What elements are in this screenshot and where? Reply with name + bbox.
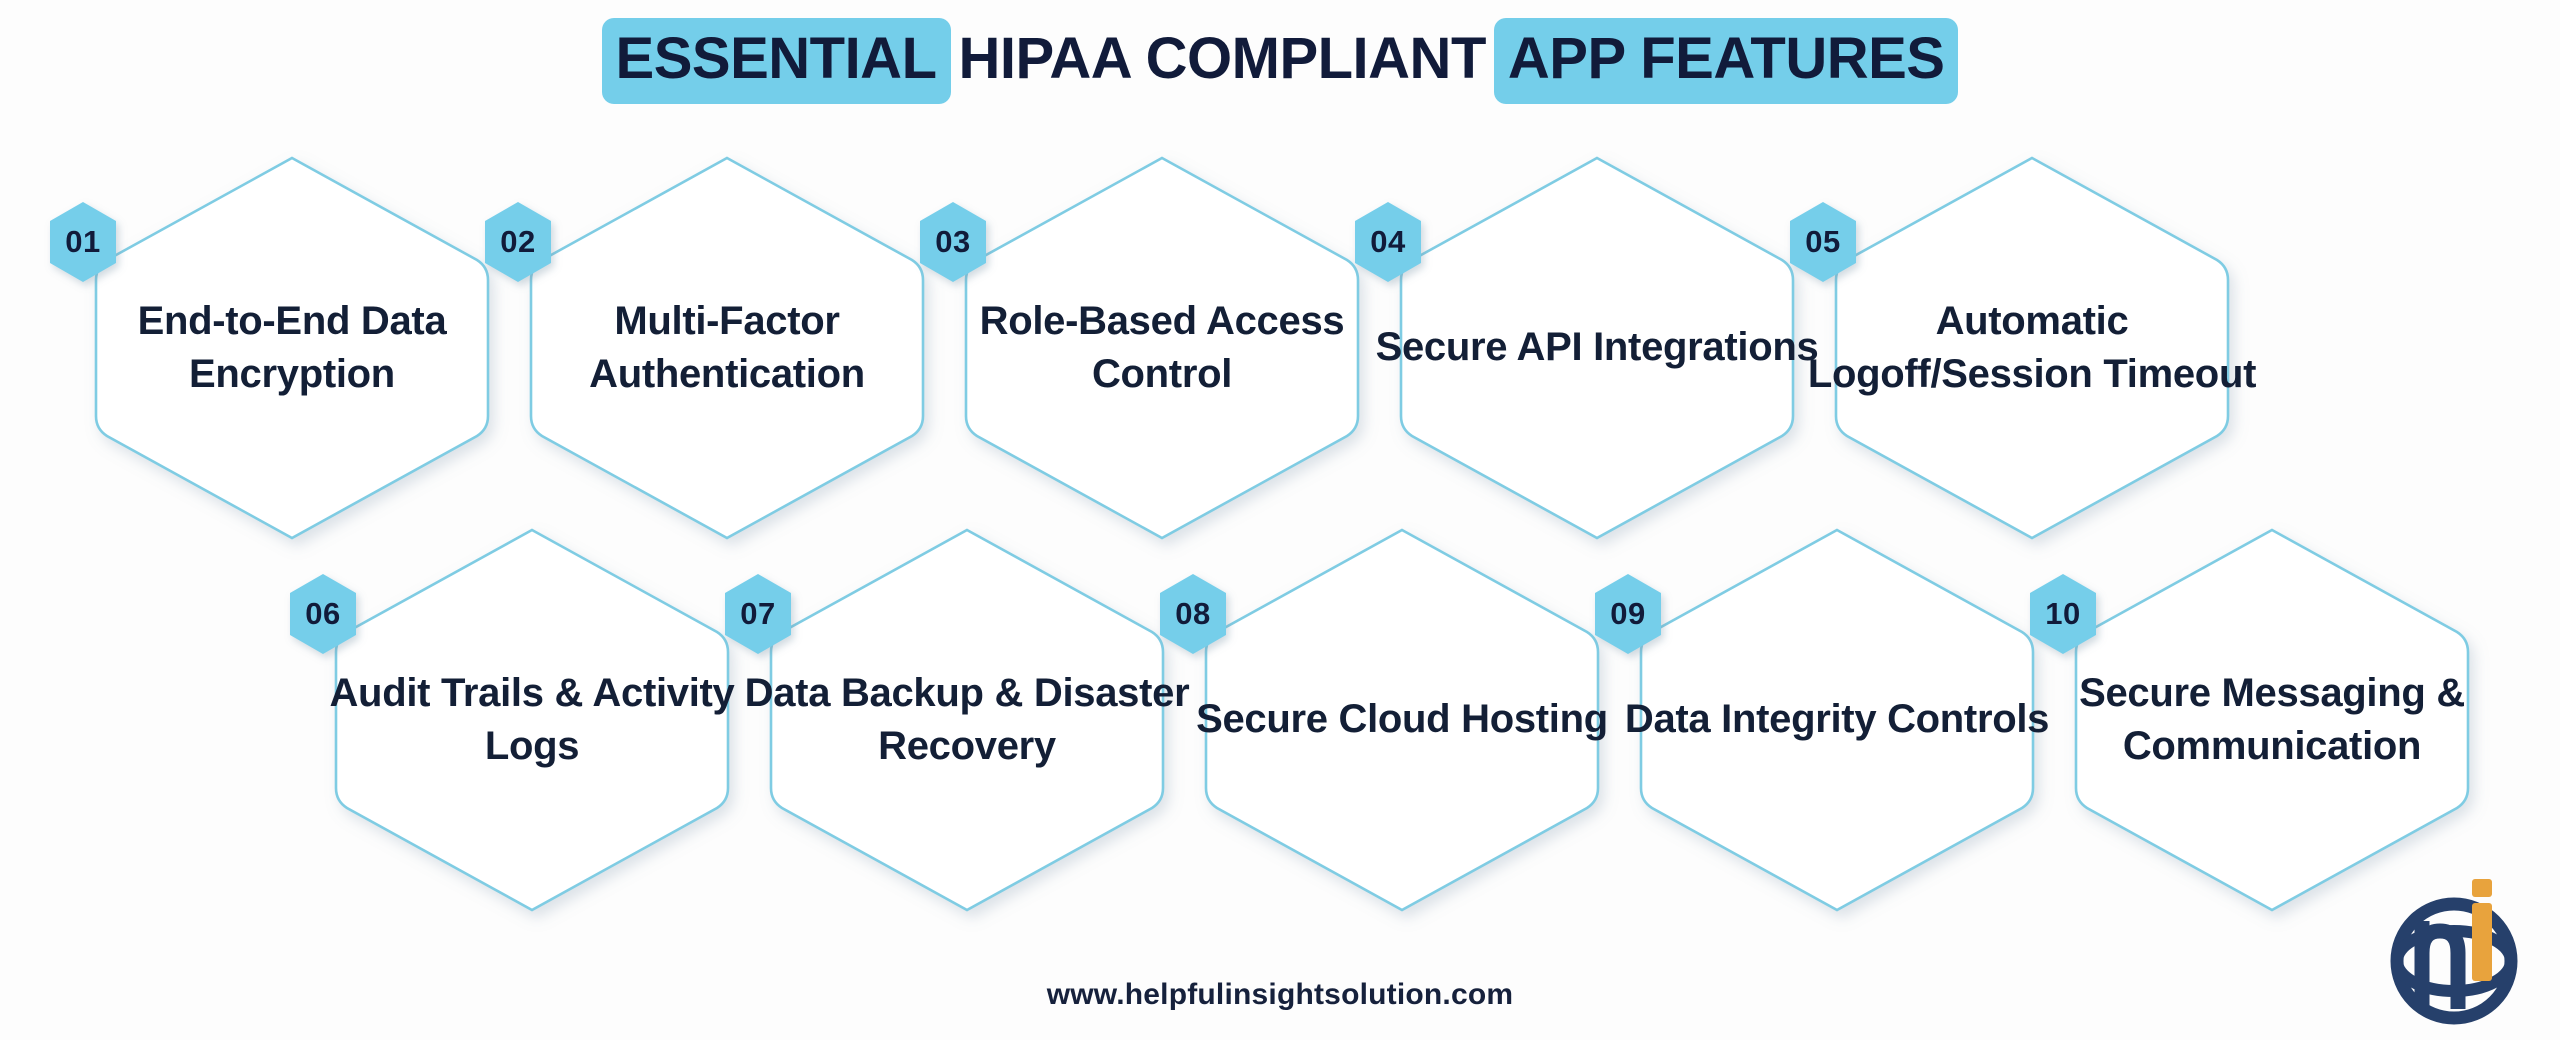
footer-website-url: www.helpfulinsightsolution.com [0, 978, 2560, 1012]
logo-icon [2382, 861, 2532, 1026]
feature-hexagon-02[interactable]: Multi-Factor Authentication02 [527, 148, 927, 548]
hexagon-outline-shape [962, 148, 1362, 548]
badge-number-text: 09 [1591, 572, 1665, 656]
badge-number-text: 02 [481, 200, 555, 284]
feature-hexagon-07[interactable]: Data Backup & Disaster Recovery07 [767, 520, 1167, 920]
feature-number-badge[interactable]: 03 [916, 200, 990, 284]
feature-hexagon-grid: End-to-End Data Encryption01Multi-Factor… [0, 0, 2560, 1040]
hexagon-outline-shape [332, 520, 732, 920]
feature-number-badge[interactable]: 09 [1591, 572, 1665, 656]
feature-hexagon-09[interactable]: Data Integrity Controls09 [1637, 520, 2037, 920]
hexagon-outline-shape [1637, 520, 2037, 920]
feature-hexagon-10[interactable]: Secure Messaging & Communication10 [2072, 520, 2472, 920]
feature-number-badge[interactable]: 07 [721, 572, 795, 656]
badge-number-text: 10 [2026, 572, 2100, 656]
hexagon-outline-shape [1202, 520, 1602, 920]
feature-hexagon-06[interactable]: Audit Trails & Activity Logs06 [332, 520, 732, 920]
feature-hexagon-03[interactable]: Role-Based Access Control03 [962, 148, 1362, 548]
badge-number-text: 05 [1786, 200, 1860, 284]
badge-number-text: 08 [1156, 572, 1230, 656]
feature-number-badge[interactable]: 10 [2026, 572, 2100, 656]
feature-number-badge[interactable]: 02 [481, 200, 555, 284]
feature-hexagon-01[interactable]: End-to-End Data Encryption01 [92, 148, 492, 548]
badge-number-text: 07 [721, 572, 795, 656]
hexagon-outline-shape [767, 520, 1167, 920]
hexagon-outline-shape [1397, 148, 1797, 548]
feature-number-badge[interactable]: 08 [1156, 572, 1230, 656]
badge-number-text: 04 [1351, 200, 1425, 284]
feature-number-badge[interactable]: 06 [286, 572, 360, 656]
hexagon-outline-shape [2072, 520, 2472, 920]
hexagon-outline-shape [92, 148, 492, 548]
feature-number-badge[interactable]: 04 [1351, 200, 1425, 284]
hexagon-outline-shape [1832, 148, 2232, 548]
feature-number-badge[interactable]: 01 [46, 200, 120, 284]
badge-number-text: 06 [286, 572, 360, 656]
badge-number-text: 01 [46, 200, 120, 284]
feature-hexagon-04[interactable]: Secure API Integrations04 [1397, 148, 1797, 548]
feature-hexagon-08[interactable]: Secure Cloud Hosting08 [1202, 520, 1602, 920]
feature-number-badge[interactable]: 05 [1786, 200, 1860, 284]
hexagon-outline-shape [527, 148, 927, 548]
badge-number-text: 03 [916, 200, 990, 284]
brand-logo [2382, 861, 2532, 1026]
feature-hexagon-05[interactable]: Automatic Logoff/Session Timeout05 [1832, 148, 2232, 548]
